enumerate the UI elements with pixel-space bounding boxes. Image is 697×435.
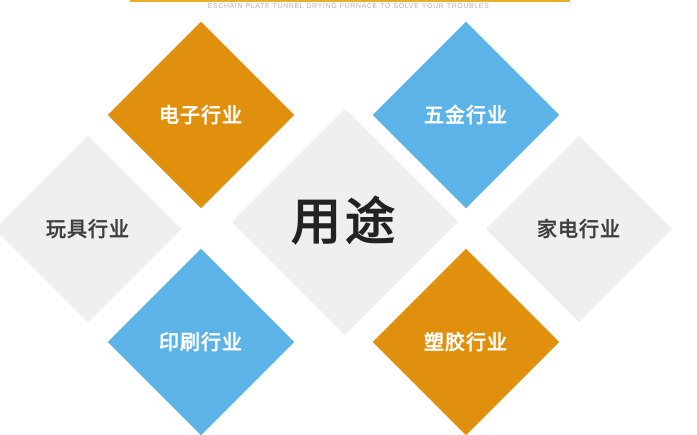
diamond-home-appliance[interactable]: 家电行业 bbox=[486, 136, 673, 323]
diamond-home-appliance-label: 家电行业 bbox=[537, 219, 621, 239]
usage-diamond-diagram: 玩具行业 电子行业 印刷行业 用途 五金行业 塑胶行业 家电行业 bbox=[0, 16, 697, 414]
diamond-electronics[interactable]: 电子行业 bbox=[108, 22, 295, 209]
banner-tagline: ESCHAIN PLATE TUNNEL DRYING FURNACE TO S… bbox=[0, 3, 697, 10]
diamond-printing[interactable]: 印刷行业 bbox=[108, 249, 295, 435]
diamond-center-label: 用途 bbox=[291, 197, 399, 247]
banner-rule bbox=[130, 0, 570, 2]
diamond-toys-label: 玩具行业 bbox=[46, 219, 130, 239]
diamond-plastic-label: 塑胶行业 bbox=[424, 332, 508, 352]
top-banner: ESCHAIN PLATE TUNNEL DRYING FURNACE TO S… bbox=[0, 0, 697, 16]
diamond-electronics-label: 电子行业 bbox=[159, 105, 243, 125]
diamond-printing-label: 印刷行业 bbox=[159, 332, 243, 352]
diamond-hardware-label: 五金行业 bbox=[424, 105, 508, 125]
